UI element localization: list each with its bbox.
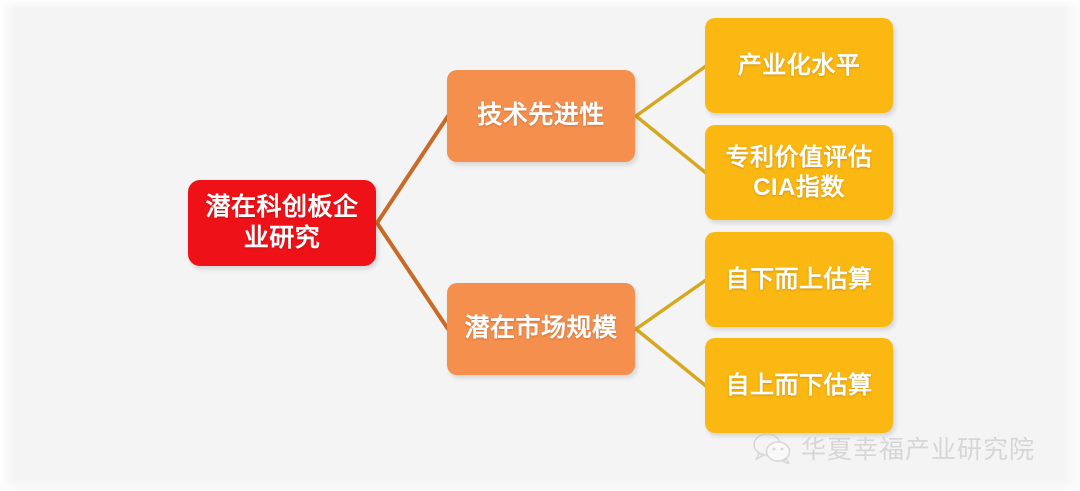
- node-leaf-patent-value[interactable]: 专利价值评估 CIA指数: [705, 125, 893, 220]
- node-leaf-1-line-1: CIA指数: [713, 173, 885, 203]
- node-leaf-industrialization[interactable]: 产业化水平: [705, 18, 893, 113]
- connector-root-to-branch-0: [377, 116, 448, 223]
- connector-branch-1-to-leaf-3: [636, 329, 706, 386]
- node-leaf-bottom-up[interactable]: 自下而上估算: [705, 232, 893, 327]
- node-leaf-1-label: 专利价值评估 CIA指数: [713, 143, 885, 203]
- node-root-label: 潜在科创板企业研究: [196, 192, 368, 255]
- node-leaf-0-line-0: 产业化水平: [713, 51, 885, 81]
- node-leaf-1-line-0: 专利价值评估: [713, 143, 885, 173]
- node-branch-1-label: 潜在市场规模: [455, 313, 627, 344]
- node-leaf-top-down[interactable]: 自上而下估算: [705, 338, 893, 433]
- node-branch-market[interactable]: 潜在市场规模: [447, 283, 635, 375]
- node-branch-0-label: 技术先进性: [455, 100, 627, 131]
- slide-canvas: 潜在科创板企业研究 技术先进性 潜在市场规模 产业化水平 专利价值评估 CIA指…: [0, 0, 1080, 491]
- watermark: 华夏幸福产业研究院: [752, 430, 1035, 466]
- connector-branch-0-to-leaf-0: [636, 66, 706, 116]
- node-leaf-3-label: 自上而下估算: [713, 371, 885, 401]
- connector-root-to-branch-1: [377, 223, 448, 329]
- connector-branch-1-to-leaf-2: [636, 280, 706, 329]
- node-leaf-2-line-0: 自下而上估算: [713, 265, 885, 295]
- wechat-icon: [752, 432, 792, 464]
- node-leaf-3-line-0: 自上而下估算: [713, 371, 885, 401]
- watermark-text: 华夏幸福产业研究院: [801, 430, 1035, 466]
- node-leaf-2-label: 自下而上估算: [713, 265, 885, 295]
- connector-branch-0-to-leaf-1: [636, 116, 706, 173]
- node-branch-technology[interactable]: 技术先进性: [447, 70, 635, 162]
- node-root[interactable]: 潜在科创板企业研究: [188, 180, 376, 266]
- node-leaf-0-label: 产业化水平: [713, 51, 885, 81]
